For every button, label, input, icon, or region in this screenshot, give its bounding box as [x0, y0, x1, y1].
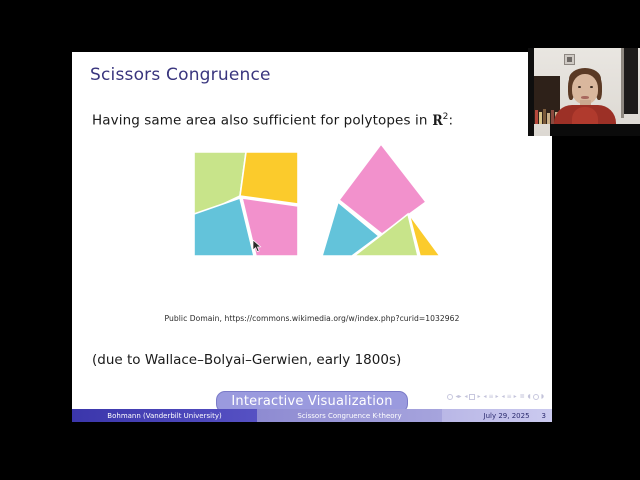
- figure-caption: Public Domain, https://commons.wikimedia…: [72, 314, 552, 323]
- slide-prev-icon[interactable]: [447, 394, 453, 400]
- book: [543, 109, 546, 124]
- wall-picture-frame: [564, 54, 575, 65]
- frame-nav-group[interactable]: ◂ ▸: [464, 394, 480, 400]
- slide-footer: Bohmann (Vanderbilt University) Scissors…: [72, 409, 552, 422]
- presentation-slide: Scissors Congruence Having same area als…: [72, 52, 552, 422]
- blackboard-r-glyph: R: [432, 113, 442, 129]
- section-next-icon[interactable]: ▸: [514, 394, 517, 400]
- presenter-eye-left: [578, 86, 581, 88]
- webcam-left-letterbox: [528, 48, 534, 136]
- square-pieces-group: [194, 152, 298, 256]
- triangle-pieces-group: [322, 144, 440, 256]
- footer-talk-title: Scissors Congruence K-theory: [257, 409, 442, 422]
- subsection-prev-icon[interactable]: ◂: [484, 394, 487, 400]
- document-icon[interactable]: ≣: [520, 394, 525, 400]
- footer-right: July 29, 2025 3: [442, 409, 552, 422]
- subsection-icon[interactable]: ≡: [489, 394, 494, 400]
- beamer-navigation-symbols: ◂▸ ◂ ▸ ◂ ≡ ▸ ◂ ≡ ▸ ≣ ◖ ◗: [447, 394, 544, 400]
- mouse-cursor-icon: [253, 240, 262, 253]
- doorway: [624, 48, 638, 114]
- section-nav-group[interactable]: ◂ ≡ ▸: [502, 394, 517, 400]
- blackboard-r-symbol: R: [432, 113, 443, 129]
- section-icon[interactable]: ≡: [507, 394, 512, 400]
- presenter-mouth: [581, 96, 589, 99]
- presenter-eye-right: [590, 86, 593, 88]
- video-player-stage: Scissors Congruence Having same area als…: [0, 0, 640, 480]
- dissection-figure: [72, 140, 552, 268]
- lead-prefix-text: Having same area also sufficient for pol…: [92, 113, 432, 129]
- square-figure: [193, 151, 300, 258]
- forward-icon[interactable]: ◗: [541, 394, 544, 400]
- book: [539, 112, 542, 124]
- triangle-figure: [322, 144, 440, 256]
- subsection-nav-group[interactable]: ◂ ≡ ▸: [484, 394, 499, 400]
- home-icon[interactable]: [533, 394, 539, 400]
- lead-suffix-text: :: [448, 113, 453, 129]
- frame-prev-icon[interactable]: ◂: [464, 394, 467, 400]
- frame-icon[interactable]: [469, 394, 475, 400]
- dissection-svg: [162, 140, 462, 268]
- footer-page-number: 3: [542, 412, 546, 420]
- history-nav-group[interactable]: ◖ ◗: [528, 394, 544, 400]
- back-icon[interactable]: ◖: [528, 394, 531, 400]
- webcam-bottom-letterbox: [550, 124, 640, 136]
- attribution-text: (due to Wallace–Bolyai–Gerwien, early 18…: [92, 352, 401, 368]
- book: [547, 113, 550, 124]
- yellow-piece: [240, 152, 298, 204]
- section-prev-icon[interactable]: ◂: [502, 394, 505, 400]
- slide-sep-icon: ◂▸: [455, 394, 461, 400]
- frame-next-icon[interactable]: ▸: [477, 394, 480, 400]
- subsection-next-icon[interactable]: ▸: [496, 394, 499, 400]
- slide-nav-group[interactable]: ◂▸: [447, 394, 461, 400]
- presenter-webcam-overlay[interactable]: [528, 48, 640, 136]
- slide-title: Scissors Congruence: [90, 65, 271, 85]
- footer-author: Bohmann (Vanderbilt University): [72, 409, 257, 422]
- book: [535, 110, 538, 124]
- slide-lead-text: Having same area also sufficient for pol…: [92, 112, 453, 129]
- footer-date: July 29, 2025: [484, 412, 530, 420]
